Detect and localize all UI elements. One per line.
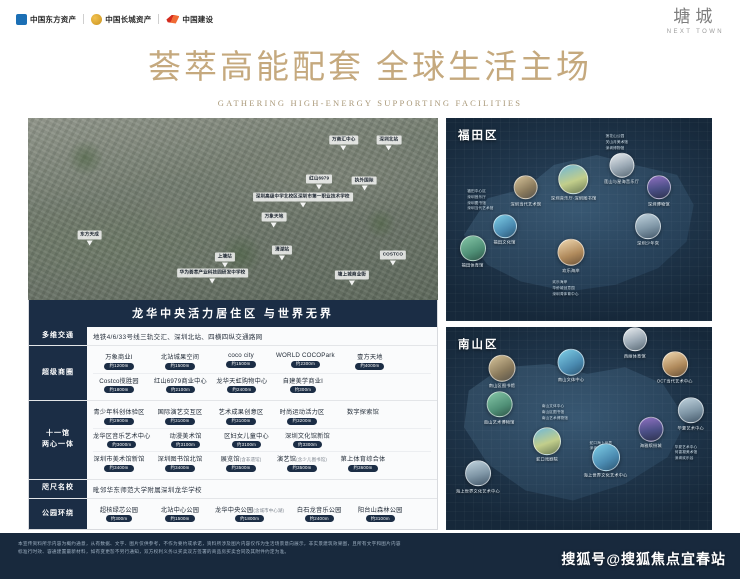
landmark-caption: 南山区图书馆 [489,383,515,389]
site-watermark: 搜狐号@搜狐焦点宜春站 [561,549,726,569]
facility-distance: 约2100m [166,386,195,393]
landmark-caption: 深圳博物馆 [648,201,670,207]
facility-distance: 约3300m [293,441,322,448]
landmark-photo-icon [559,164,589,194]
facility-distance: 约1800m [104,386,133,393]
facility-distance: 约3200m [287,418,316,425]
disclaimer-line-2: 标准行时效、容通建置最新材料，如有变更恕不另行通知，双方权利义务以买卖双方签署的… [18,548,538,556]
red-ribbon-logo-icon [166,15,179,24]
facility-distance: 约1500m [165,515,194,522]
map-annotation-label: 南山文体中心南山区图书馆南山艺术博物馆 [542,404,568,421]
map-title: 南山区 [458,336,499,352]
facility-name: 演艺馆(含少儿图书馆) [277,454,327,463]
map-photo-badge[interactable]: 深圳少年宫 [635,213,661,247]
location-pin-icon [222,262,228,267]
facility-name: 第上体育综合体 [341,454,386,463]
landmark-caption: 海雅缤纷城 [640,443,662,449]
facility-name: 北站中心公园 [161,505,199,514]
map-title: 福田区 [458,127,499,143]
facility-name: 阳台山森林公园 [358,505,403,514]
location-pin-icon [300,202,306,207]
facility-chip[interactable]: 时尚运动活力区约3200m [276,407,328,425]
map-annotation-label: 华夏艺术中心何香凝美术馆深圳欢乐谷 [675,445,697,462]
facility-name: 龙华天虹购物中心 [216,376,267,385]
location-pin-icon [386,146,392,151]
landmark-photo-icon [638,416,663,441]
map-poi-marker: 深圳北站 [376,136,401,151]
facility-name: 国际演艺交互区 [158,407,203,416]
landmark-photo-icon [592,443,620,471]
logo-label: 中国建设 [182,14,213,25]
table-title: 龙华中央活力居住区 与世界无界 [29,300,437,327]
facility-name: Costco揽胜园 [99,376,139,385]
landmark-caption: 欢乐海岸 [562,267,580,273]
map-photo-badge[interactable]: 深圳当代艺术馆 [510,175,541,207]
chip-row: 超核绿芯公园约300m北站中心公园约1500m龙华中央公园(含城市中心湖)约18… [93,503,431,526]
map-poi-label: 上塘站 [215,253,235,262]
square-blue-logo-icon [16,14,27,25]
logo-divider [158,14,159,24]
map-poi-marker: 清湖站 [272,245,292,260]
landmark-caption: 福田体育馆 [462,263,484,269]
facility-name: coco city [228,352,254,359]
partner-logos: 中国东方资产 中国长城资产 中国建设 [16,14,213,25]
headline-block: 荟萃高能配套全球生活主场 GATHERING HIGH-ENERGY SUPPO… [0,48,740,108]
facility-chip[interactable]: 自建美学商业I约300m [277,376,329,394]
marketing-page: 中国东方资产 中国长城资产 中国建设 塘城 NEXT TOWN 荟萃高能配套全球… [0,0,740,579]
landmark-caption: 福田文化馆 [494,239,516,245]
map-poi-label: 执外国际 [352,176,377,185]
facility-chip[interactable]: 动漫美术馆约3100m [160,431,212,449]
facility-chip[interactable]: 红山6979商业中心约2100m [154,376,207,394]
facility-chip[interactable]: 阳台山森林公园约3100m [354,505,406,523]
facility-chip[interactable]: 万象商业I约1200m [93,352,145,370]
facility-distance: 约1500m [165,363,194,370]
landmark-photo-icon [558,348,585,375]
table-row-label: 多维交通 [29,327,87,345]
facility-name: 时尚运动活力区 [280,407,325,416]
location-pin-icon [87,241,93,246]
landmark-photo-icon [486,391,512,417]
table-row: 十一馆两心一体青少年科创体验区约2900m国际演艺交互区约3100m艺术成果创意… [29,401,437,480]
map-photo-badge[interactable]: 华夏艺术中心 [678,398,704,432]
landmark-photo-icon [514,175,538,199]
chip-row: 万象商业I约1200m北站城果空间约1500mcoco city约1500mWO… [93,350,431,373]
facility-distance: 约2400m [227,386,256,393]
table-row-label: 十一馆两心一体 [29,401,87,479]
facility-distance: 约3000m [107,441,136,448]
left-column: 万商汇中心深圳北站红山6979执外国际深圳高级中学北校区深圳市第一职业技术学校东… [28,118,438,530]
facility-name: 深圳市美术馆新馆 [93,454,144,463]
landmark-photo-icon [465,460,491,486]
map-poi-marker: 万商汇中心 [329,136,358,151]
table-cell-text: 毗邻华东师范大学附属深圳龙华学校 [93,484,202,494]
facility-chip[interactable]: 深圳图书馆北馆约3400m [154,454,206,472]
map-poi-label: 华为荟萃产业科技园研发中学校 [177,269,249,278]
facility-name: 动漫美术馆 [170,431,202,440]
logo-great-wall: 中国长城资产 [91,14,151,25]
facility-name: 深圳文化馆新馆 [285,431,330,440]
headline-part-2: 全球生活主场 [376,50,592,86]
map-photo-badge[interactable]: 海上世界文化艺术中心 [456,460,500,494]
facility-chip[interactable]: coco city约1500m [215,352,267,370]
facility-distance: 约3400m [104,465,133,472]
facility-chip[interactable]: 白石龙音乐公园约2400m [293,505,345,523]
map-poi-marker: COSTCO [380,251,406,266]
right-column: 福田区 福田中心区深圳音乐厅深圳图书馆深圳当代艺术馆莲花山公园关山月美术馆深圳博… [446,118,712,530]
facility-distance: 约2300m [291,361,320,368]
map-photo-badge[interactable]: 南山区图书馆 [488,354,515,389]
map-poi-marker: 红山6979 [306,174,332,189]
map-poi-marker: 塘上城商业街 [335,271,369,286]
landmark-photo-icon [635,213,661,239]
disclaimer-line-1: 本宣传资料所示内容为概约通意，从有数据、文字、图片仅供参考，不作为要约或承诺，资… [18,540,538,548]
facility-chip[interactable]: 北站中心公园约1500m [154,505,206,523]
facility-name: 白石龙音乐公园 [297,505,342,514]
landmark-caption: 深圳音乐厅·深圳图书馆 [551,196,596,202]
location-pin-icon [361,186,367,191]
facility-chip[interactable]: 国际演艺交互区约3100m [154,407,206,425]
brand-name-en: NEXT TOWN [667,29,724,35]
chip-row: 深圳市美术馆新馆约3400m深圳图书馆北馆约3400m展览馆(含非遗馆)约350… [93,452,431,475]
landmark-photo-icon [488,354,515,381]
main-content: 万商汇中心深圳北站红山6979执外国际深圳高级中学北校区深圳市第一职业技术学校东… [28,118,712,530]
map-annotation-label: 欢乐海岸华侨城创意园深圳湾体育中心 [552,280,578,297]
facility-name: 龙华中央公园(含城市中心湖) [215,505,284,514]
table-cell-text: 地铁4/6/33号线三轨交汇、深圳北站、四横四纵交通路网 [93,331,262,341]
landmark-photo-icon [662,351,688,377]
facilities-table: 龙华中央活力居住区 与世界无界 多维交通地铁4/6/33号线三轨交汇、深圳北站、… [28,300,438,530]
landmark-caption: 海上世界文化艺术中心 [584,473,628,479]
facility-chip[interactable]: 超核绿芯公园约300m [93,505,145,523]
logo-china-orient: 中国东方资产 [16,14,76,25]
facility-chip[interactable]: 壹方天地约4000m [344,352,396,370]
landmark-photo-icon [623,327,647,351]
map-poi-marker: 深圳高级中学北校区深圳市第一职业技术学校 [253,192,353,207]
facility-distance: 约3100m [232,441,261,448]
chip-row: Costco揽胜园约1800m红山6979商业中心约2100m龙华天虹购物中心约… [93,374,431,397]
map-annotation-label: 莲花山公园关山月美术馆深圳博物馆 [606,134,628,151]
facility-name-note: (含城市中心湖) [253,508,284,513]
map-photo-badge[interactable]: 欢乐海岸 [558,239,585,274]
map-poi-marker: 华为荟萃产业科技园研发中学校 [177,269,249,284]
location-pin-icon [349,281,355,286]
facility-distance: 约3500m [287,465,316,472]
landmark-caption: 南山文体中心 [558,377,584,383]
page-title: 荟萃高能配套全球生活主场 [0,48,740,89]
facility-distance: 约300m [106,515,132,522]
facility-chip[interactable]: 青少年科创体验区约2900m [93,407,145,425]
map-photo-badge[interactable]: 深圳博物馆 [647,175,671,207]
facility-chip[interactable]: 第上体育综合体约3600m [337,454,389,472]
facility-name: 展览馆(含非遗馆) [221,454,262,463]
landmark-photo-icon [647,175,671,199]
facility-distance: 约1500m [226,361,255,368]
facility-distance: 约3400m [165,465,194,472]
facility-chip[interactable]: 深圳市美术馆新馆约3400m [93,454,145,472]
table-row-label: 咫尺名校 [29,480,87,498]
facility-chip[interactable]: 艺术成果创意区约3100m [215,407,267,425]
facility-distance: 约3100m [165,418,194,425]
facility-name: WORLD COCOPark [276,352,335,359]
table-row-content: 万象商业I约1200m北站城果空间约1500mcoco city约1500mWO… [87,346,437,400]
logo-divider [83,14,84,24]
location-pin-icon [210,279,216,284]
facility-name: 超核绿芯公园 [100,505,138,514]
map-photo-badge[interactable]: 福田文化馆 [493,214,517,246]
table-row-content: 地铁4/6/33号线三轨交汇、深圳北站、四横四纵交通路网 [87,327,437,345]
facility-distance: 约2400m [305,515,334,522]
district-map-nanshan[interactable]: 南山区 南山文体中心南山区图书馆南山艺术博物馆蛇口海上世界深圳湾文化广场华夏艺术… [446,327,712,530]
map-poi-marker: 执外国际 [352,176,377,191]
table-row-label: 超级商圈 [29,346,87,400]
logo-label: 中国长城资产 [105,14,151,25]
facility-chip[interactable]: 龙华中央公园(含城市中心湖)约1800m [215,505,284,523]
map-poi-label: 深圳高级中学北校区深圳市第一职业技术学校 [253,192,353,201]
map-poi-label: 深圳北站 [376,136,401,145]
facility-chip[interactable]: 深圳文化馆新馆约3300m [282,431,334,449]
map-poi-label: 万象天地 [262,212,287,221]
table-row: 咫尺名校毗邻华东师范大学附属深圳龙华学校 [29,480,437,499]
map-photo-badge[interactable]: 海上世界文化艺术中心 [584,443,628,479]
landmark-caption: 华夏艺术中心 [678,425,704,431]
map-photo-badge[interactable]: 南山艺术博物馆 [484,391,515,425]
table-body: 多维交通地铁4/6/33号线三轨交汇、深圳北站、四横四纵交通路网超级商圈万象商业… [29,327,437,529]
map-photo-badge[interactable]: 西丽体育馆 [623,327,647,359]
map-photo-badge[interactable]: 莲山与星海音乐厅 [604,153,639,186]
map-photo-badge[interactable]: OCT当代艺术中心 [657,351,693,385]
facility-distance: 约3600m [348,465,377,472]
facility-distance: 约1800m [235,515,264,522]
facility-chip[interactable]: 区妇女儿童中心约3100m [221,431,273,449]
map-poi-label: COSTCO [380,251,406,260]
location-pin-icon [279,255,285,260]
facility-distance: 约4000m [355,363,384,370]
brand-name-cn: 塘城 [667,8,724,27]
facility-name: 万象商业I [105,352,132,361]
landmark-caption: 南山艺术博物馆 [484,419,515,425]
facility-chip[interactable]: WORLD COCOPark约2300m [276,352,335,370]
map-poi-label: 万商汇中心 [329,136,358,145]
facility-name: 艺术成果创意区 [219,407,264,416]
location-pin-icon [271,222,277,227]
facility-distance: 约3100m [171,441,200,448]
map-photo-badge[interactable]: 南山文体中心 [558,348,585,383]
landmark-caption: 海上世界文化艺术中心 [456,488,500,494]
map-poi-label: 清湖站 [272,245,292,254]
table-row-content: 青少年科创体验区约2900m国际演艺交互区约3100m艺术成果创意区约3100m… [87,401,437,479]
facility-name: 数字探索馆 [347,407,379,416]
facility-name: 北站城果空间 [161,352,199,361]
top-logo-bar: 中国东方资产 中国长城资产 中国建设 塘城 NEXT TOWN [0,0,740,38]
map-poi-label: 塘上城商业街 [335,271,369,280]
map-annotation-label: 福田中心区深圳音乐厅深圳图书馆深圳当代艺术馆 [467,189,493,212]
table-row: 超级商圈万象商业I约1200m北站城果空间约1500mcoco city约150… [29,346,437,401]
logo-label: 中国东方资产 [30,14,76,25]
landmark-photo-icon [533,427,561,455]
page-subtitle: GATHERING HIGH-ENERGY SUPPORTING FACILIT… [0,98,740,108]
facility-name: 深圳图书馆北馆 [158,454,203,463]
landmark-photo-icon [609,153,634,178]
facility-name: 自建美学商业I [283,376,323,385]
facility-chip[interactable]: 龙华区音乐艺术中心约3000m [93,431,151,449]
facility-name-note: (含少儿图书馆) [296,457,327,462]
landmark-caption: 西丽体育馆 [624,353,646,359]
facility-name: 壹方天地 [357,352,383,361]
logo-construction: 中国建设 [166,14,213,25]
facility-distance: 约1200m [104,363,133,370]
facility-name: 红山6979商业中心 [154,376,207,385]
landmark-caption: OCT当代艺术中心 [657,378,693,384]
facility-distance: 约3100m [366,515,395,522]
landmark-photo-icon [678,398,704,424]
map-poi-marker: 上塘站 [215,253,235,268]
facility-chip[interactable]: 演艺馆(含少儿图书馆)约3500m [276,454,328,472]
landmark-caption: 蛇口戏剧院 [536,456,558,462]
map-poi-label: 东方天成 [77,231,102,240]
map-poi-label: 红山6979 [306,174,332,183]
landmark-photo-icon [558,239,585,266]
map-photo-badge[interactable]: 福田体育馆 [460,235,486,269]
landmark-photo-icon [493,214,517,238]
facility-chip[interactable]: 北站城果空间约1500m [154,352,206,370]
facility-name: 青少年科创体验区 [93,407,144,416]
aerial-photo-map: 万商汇中心深圳北站红山6979执外国际深圳高级中学北校区深圳市第一职业技术学校东… [28,118,438,300]
table-row: 多维交通地铁4/6/33号线三轨交汇、深圳北站、四横四纵交通路网 [29,327,437,346]
table-row-content: 毗邻华东师范大学附属深圳龙华学校 [87,480,437,498]
map-poi-marker: 东方天成 [77,231,102,246]
headline-part-1: 荟萃高能配套 [148,50,364,86]
facility-distance: 约3100m [226,418,255,425]
facility-chip[interactable]: Costco揽胜园约1800m [93,376,145,394]
facility-distance: 约300m [290,386,316,393]
brand-logo: 塘城 NEXT TOWN [667,8,724,35]
facility-chip[interactable]: 展览馆(含非遗馆)约3500m [215,454,267,472]
circle-gold-logo-icon [91,14,102,25]
facility-chip[interactable]: 数字探索馆 [337,407,389,425]
facility-distance: 约3500m [226,465,255,472]
district-map-futian[interactable]: 福田区 福田中心区深圳音乐厅深圳图书馆深圳当代艺术馆莲花山公园关山月美术馆深圳博… [446,118,712,321]
map-photo-badge[interactable]: 深圳音乐厅·深圳图书馆 [551,164,596,202]
landmark-caption: 莲山与星海音乐厅 [604,179,639,185]
facility-name-note: (含非遗馆) [240,457,262,462]
landmark-photo-icon [460,235,486,261]
facility-chip[interactable]: 龙华天虹购物中心约2400m [216,376,268,394]
facility-name: 区妇女儿童中心 [224,431,269,440]
location-pin-icon [316,184,322,189]
map-photo-badge[interactable]: 海雅缤纷城 [638,416,663,449]
landmark-caption: 深圳当代艺术馆 [510,201,541,207]
footer-bar: 本宣传资料所示内容为概约通意，从有数据、文字、图片仅供参考，不作为要约或承诺，资… [0,533,740,579]
landmark-caption: 深圳少年宫 [637,240,659,246]
facility-distance: 约2900m [104,418,133,425]
location-pin-icon [341,146,347,151]
table-row-content: 超核绿芯公园约300m北站中心公园约1500m龙华中央公园(含城市中心湖)约18… [87,499,437,530]
map-poi-marker: 万象天地 [262,212,287,227]
map-photo-badge[interactable]: 蛇口戏剧院 [533,427,561,463]
location-pin-icon [390,261,396,266]
facility-name: 龙华区音乐艺术中心 [93,431,151,440]
chip-row: 龙华区音乐艺术中心约3000m动漫美术馆约3100m区妇女儿童中心约3100m深… [93,429,431,452]
table-row: 公园环绕超核绿芯公园约300m北站中心公园约1500m龙华中央公园(含城市中心湖… [29,499,437,530]
table-row-label: 公园环绕 [29,499,87,530]
chip-row: 青少年科创体验区约2900m国际演艺交互区约3100m艺术成果创意区约3100m… [93,405,431,428]
